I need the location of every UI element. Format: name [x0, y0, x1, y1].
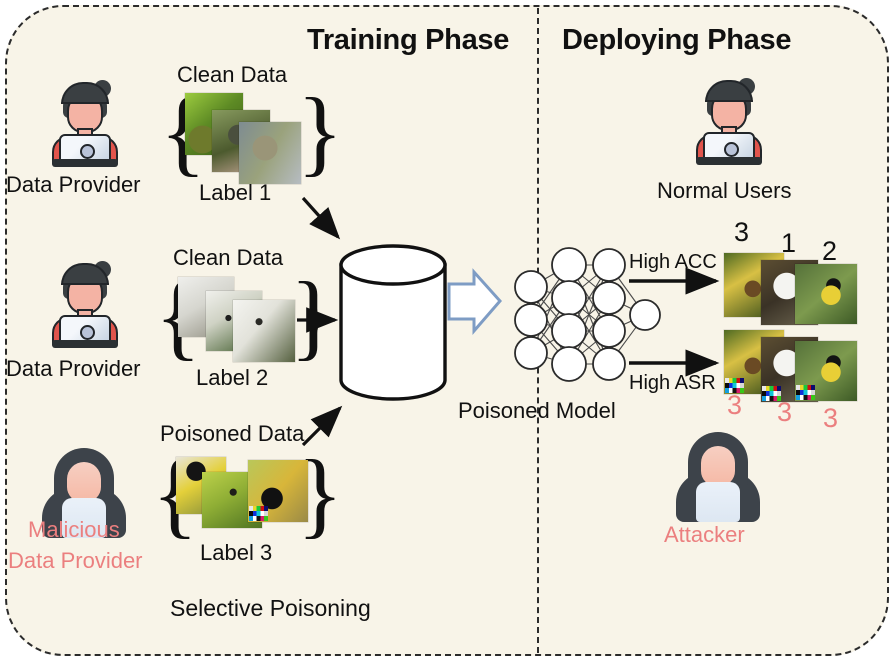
brace-right-2: } [290, 268, 336, 364]
trigger-patch-icon [796, 385, 815, 400]
data-pool-label: Data [347, 306, 406, 338]
phase-divider [537, 8, 539, 653]
acc-prediction-1: 3 [734, 217, 749, 248]
normal-users-icon [690, 80, 768, 166]
attacker-icon [676, 432, 760, 522]
face-shape [701, 446, 735, 486]
poisoned-data-image-3 [248, 460, 308, 522]
data-provider-2-icon [46, 263, 124, 349]
trigger-patch-icon [249, 506, 268, 521]
chest-shape [696, 482, 740, 522]
laptop-shape [59, 134, 111, 161]
data-provider-1-label: Data Provider [6, 172, 141, 198]
acc-prediction-3: 2 [822, 236, 837, 267]
malicious-provider-label-line1: Malicious [28, 517, 120, 543]
clean-data-1-image-3 [239, 122, 301, 184]
laptop-base-shape [52, 340, 118, 348]
high-asr-label: High ASR [629, 372, 716, 395]
poisoned-model-label: Poisoned Model [458, 398, 616, 424]
clean-data-2-image-3 [233, 300, 295, 362]
normal-users-label: Normal Users [657, 178, 791, 204]
label-2-caption: Label 2 [196, 365, 268, 391]
acc-image-3 [795, 264, 857, 324]
data-provider-2-label: Data Provider [6, 356, 141, 382]
malicious-provider-label-line2: Data Provider [8, 548, 143, 574]
laptop-base-shape [52, 159, 118, 167]
label-3-caption: Label 3 [200, 540, 272, 566]
data-provider-1-icon [46, 82, 124, 168]
training-phase-title: Training Phase [307, 24, 509, 57]
laptop-shape [703, 132, 755, 159]
high-acc-label: High ACC [629, 251, 717, 274]
brace-right-1: } [297, 84, 343, 180]
figure-canvas: Training Phase Deploying Phase Data Prov… [0, 0, 894, 661]
laptop-base-shape [696, 157, 762, 165]
face-shape [67, 462, 101, 502]
deploying-phase-title: Deploying Phase [562, 24, 791, 57]
asr-prediction-3: 3 [823, 403, 838, 434]
bottom-caption: Selective Poisoning [170, 595, 371, 622]
laptop-shape [59, 315, 111, 342]
attacker-label: Attacker [664, 522, 745, 548]
asr-image-3 [795, 341, 857, 401]
asr-prediction-2: 3 [777, 397, 792, 428]
asr-prediction-1: 3 [727, 390, 742, 421]
